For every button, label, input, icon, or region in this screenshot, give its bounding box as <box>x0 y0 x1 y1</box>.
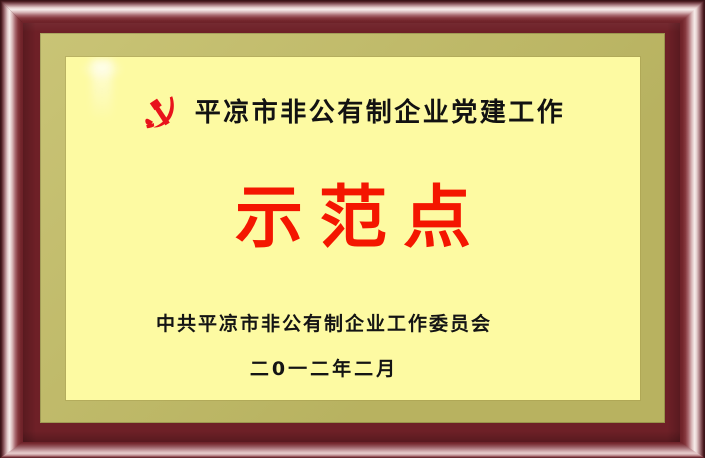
plaque-title: 平凉市非公有制企业党建工作 <box>195 100 566 126</box>
certificate-panel: 平凉市非公有制企业党建工作 示范点 中共平凉市非公有制企业工作委员会 二0一二年… <box>66 57 640 400</box>
issuing-authority: 中共平凉市非公有制企业工作委员会 <box>66 309 582 336</box>
issue-date: 二0一二年二月 <box>66 354 582 381</box>
frame-bevel-left <box>0 0 23 458</box>
award-plaque: 平凉市非公有制企业党建工作 示范点 中共平凉市非公有制企业工作委员会 二0一二年… <box>0 0 705 458</box>
plaque-headline: 示范点 <box>66 185 640 253</box>
cpc-hammer-sickle-emblem <box>141 93 181 133</box>
frame-bevel-bottom <box>0 442 705 458</box>
frame-bevel-right <box>680 0 705 458</box>
panel-content: 平凉市非公有制企业党建工作 示范点 中共平凉市非公有制企业工作委员会 二0一二年… <box>66 57 640 400</box>
title-row: 平凉市非公有制企业党建工作 <box>66 93 640 133</box>
frame-bevel-top <box>0 0 705 23</box>
